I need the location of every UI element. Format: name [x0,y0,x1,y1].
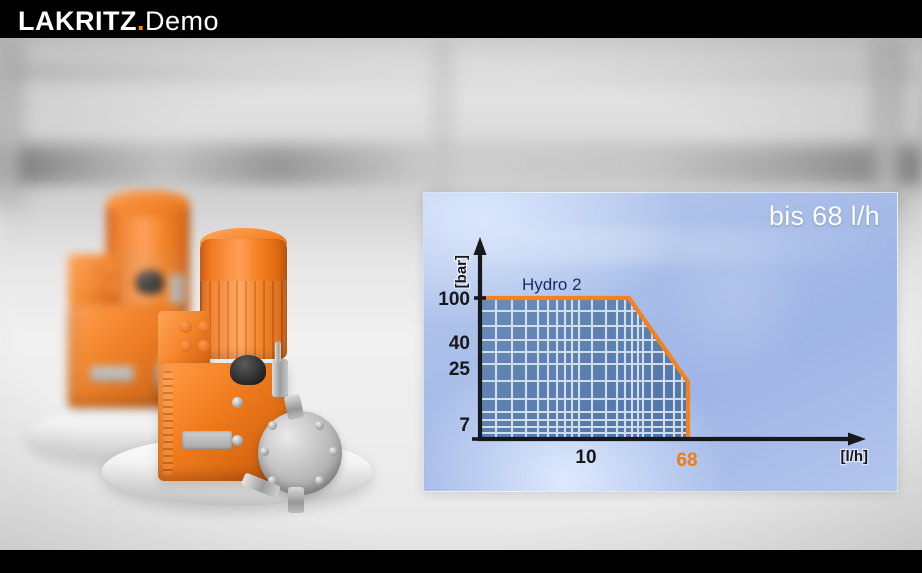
y-tick-40: 40 [449,333,470,354]
series-label-hydro2: Hydro 2 [522,275,582,294]
y-tick-100: 100 [438,289,470,310]
logo-dot: . [137,6,145,36]
y-axis-unit-label: [bar] [453,255,470,288]
brand-logo: LAKRITZ.Demo [18,6,219,37]
logo-primary: LAKRITZ [18,6,137,36]
y-tick-25: 25 [449,359,471,380]
x-axis-unit-label: [l/h] [841,448,869,465]
letterbox-bottom [0,550,922,573]
performance-plot: 100 40 25 7 [bar] 10 68 [l/h] Hydro 2 [424,193,898,492]
x-tick-68: 68 [676,450,697,471]
y-tick-7: 7 [459,415,470,436]
slide-stage: Hydro 2 bis 68 l/h [0,0,922,573]
logo-secondary: Demo [145,6,219,36]
x-tick-10: 10 [575,447,596,468]
performance-chart-panel: Hydro 2 bis 68 l/h [423,192,898,492]
